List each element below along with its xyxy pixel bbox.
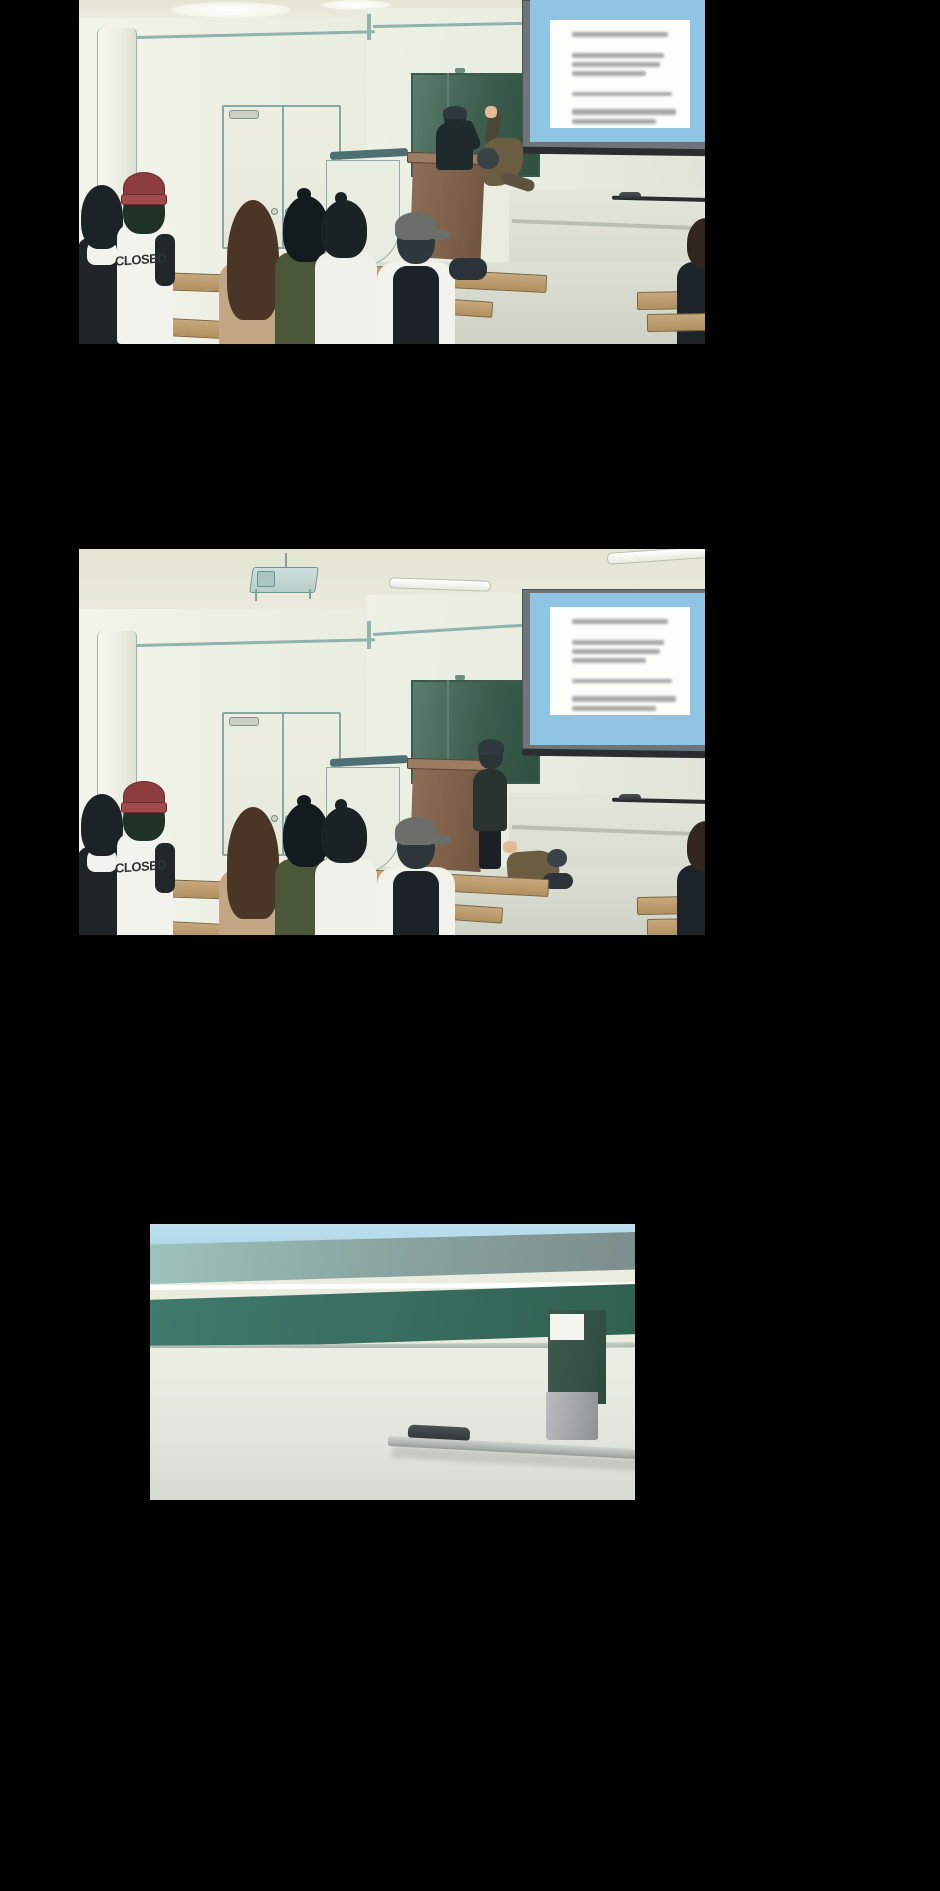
slide-line-3	[572, 658, 646, 663]
student-long-brown-hair-hair	[227, 200, 279, 320]
student-red-beanie-brim-icon	[121, 802, 167, 813]
projector-lens-icon	[257, 571, 275, 587]
student-grey-cap	[377, 212, 455, 344]
student-grey-cap-vest	[393, 266, 439, 344]
slide-line-4	[572, 92, 672, 96]
student-red-beanie: CLOSED	[117, 781, 173, 935]
speaker-beanie-icon	[478, 739, 504, 755]
collapsed-figure-hand	[503, 841, 517, 853]
slide-line-3	[572, 71, 646, 76]
climbing-figure-hand	[485, 106, 497, 118]
student-right-dark	[677, 821, 705, 935]
board-post-foot	[546, 1392, 598, 1440]
student-ponytail-hair	[321, 807, 367, 863]
slide-heading	[572, 32, 668, 37]
climbing-figure-head	[477, 148, 499, 169]
panel-lecture-hall-wide-shot: CLOSED	[79, 0, 705, 344]
panel-lecture-hall-wide-shot-with-ceiling: CLOSED	[79, 549, 705, 935]
wall-eraser-icon	[619, 794, 641, 800]
student-ponytail-tie-icon	[335, 799, 347, 811]
slide-line-1	[572, 640, 664, 645]
student-grey-cap-vest	[393, 871, 439, 935]
student-ponytail-hoodie	[315, 859, 377, 935]
slide-heading	[572, 619, 668, 624]
door-closer-icon	[229, 110, 259, 119]
projection-slide	[550, 20, 690, 128]
student-right-dark-jacket	[677, 865, 705, 935]
door-closer-icon	[229, 717, 259, 726]
ceiling-light-left	[171, 2, 291, 18]
slide-line-2	[572, 62, 660, 67]
desk-row-right-lower	[647, 312, 705, 332]
climbing-figure	[475, 110, 535, 200]
slide-line-4	[572, 679, 672, 683]
student-long-brown-hair-hair	[227, 807, 279, 919]
student-red-beanie: CLOSED	[117, 172, 173, 344]
board-post-label	[550, 1314, 584, 1340]
climbing-figure-leg	[500, 171, 536, 193]
student-right-dark-hair	[687, 821, 705, 871]
student-ponytail-hair	[321, 200, 367, 258]
wall-eraser-icon	[619, 192, 641, 198]
student-right-dark-hair	[687, 218, 705, 268]
student-ponytail-hoodie	[315, 252, 377, 344]
projector-bracket	[255, 589, 257, 601]
student-bun-knot-icon	[297, 188, 311, 200]
speaker-torso	[473, 769, 507, 831]
slide-line-5	[572, 696, 676, 702]
panel-chalkboard-closeup	[150, 1224, 635, 1500]
backpack-on-desk	[449, 258, 487, 280]
chalkboard-clip-icon	[455, 675, 465, 680]
webtoon-page: CLOSED	[0, 0, 940, 1891]
slide-line-6	[572, 706, 656, 711]
chalkboard-clip-icon	[455, 68, 465, 73]
student-ponytail	[315, 799, 377, 935]
collapsed-figure-head	[547, 849, 567, 867]
slide-line-5	[572, 109, 676, 115]
speaker-beanie-icon	[443, 106, 467, 119]
student-right-dark-jacket	[677, 262, 705, 344]
student-red-beanie-brim-icon	[121, 194, 167, 205]
slide-line-2	[572, 649, 660, 654]
wall-corner-rail	[367, 621, 371, 649]
student-grey-cap	[377, 817, 455, 935]
projector-bracket-right	[309, 589, 311, 599]
student-grey-cap-brim-icon	[429, 835, 451, 845]
slide-line-6	[572, 119, 656, 124]
projection-slide	[550, 607, 690, 715]
student-bun-knot-icon	[297, 795, 311, 807]
wall-corner-rail	[367, 14, 371, 40]
student-grey-cap-brim-icon	[429, 230, 451, 240]
student-ponytail	[315, 192, 377, 344]
slide-line-1	[572, 53, 664, 58]
student-ponytail-tie-icon	[335, 192, 347, 204]
